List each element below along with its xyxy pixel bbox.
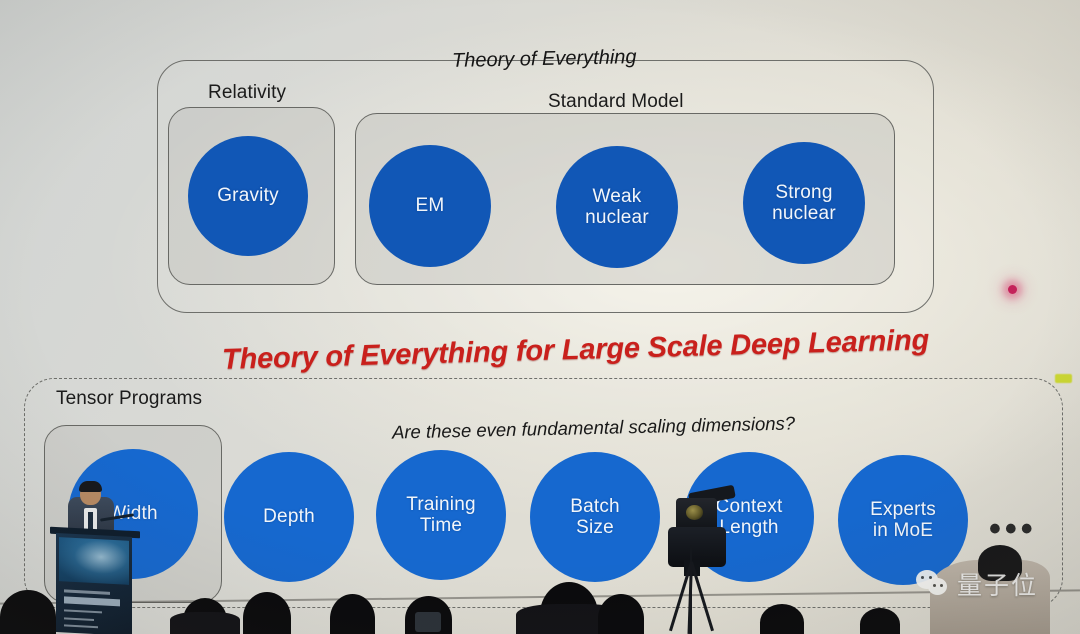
speaker-tie xyxy=(88,512,93,530)
yellow-edge-marker xyxy=(1055,374,1072,383)
speaker-hair xyxy=(79,481,102,492)
podium-banner-line xyxy=(64,596,120,606)
audience-phone xyxy=(415,612,441,632)
podium-banner-line xyxy=(64,609,102,613)
bubble-batch-size: Batch Size xyxy=(530,452,660,582)
podium-banner-artwork xyxy=(59,537,129,585)
watermark: 量子位 xyxy=(916,566,1038,602)
bubble-gravity: Gravity xyxy=(188,136,308,256)
presentation-photo: Theory of Everything Relativity Gravity … xyxy=(0,0,1080,634)
standard-model-label: Standard Model xyxy=(548,91,684,113)
bubble-weak-nuclear: Weak nuclear xyxy=(556,146,678,268)
theory-of-everything-title: Theory of Everything xyxy=(452,46,637,73)
podium-banner-line xyxy=(64,624,98,628)
bubble-depth: Depth xyxy=(224,452,354,582)
watermark-label: 量子位 xyxy=(957,566,1038,602)
bubble-strong-nuclear: Strong nuclear xyxy=(743,142,865,264)
podium-banner-line xyxy=(64,617,94,621)
bubble-training-time: Training Time xyxy=(376,450,506,580)
laser-pointer-dot xyxy=(1008,285,1017,294)
camera-lens xyxy=(686,505,703,520)
wechat-icon xyxy=(916,570,950,598)
ellipsis-more-dimensions: ••• xyxy=(989,512,1037,546)
relativity-label: Relativity xyxy=(208,82,286,104)
podium xyxy=(56,533,132,634)
audience-head xyxy=(860,608,900,634)
audience-body xyxy=(170,612,240,634)
podium-banner-line xyxy=(64,589,110,594)
audience-head xyxy=(760,604,804,634)
bubble-em: EM xyxy=(369,145,491,267)
tensor-programs-label: Tensor Programs xyxy=(56,388,202,410)
